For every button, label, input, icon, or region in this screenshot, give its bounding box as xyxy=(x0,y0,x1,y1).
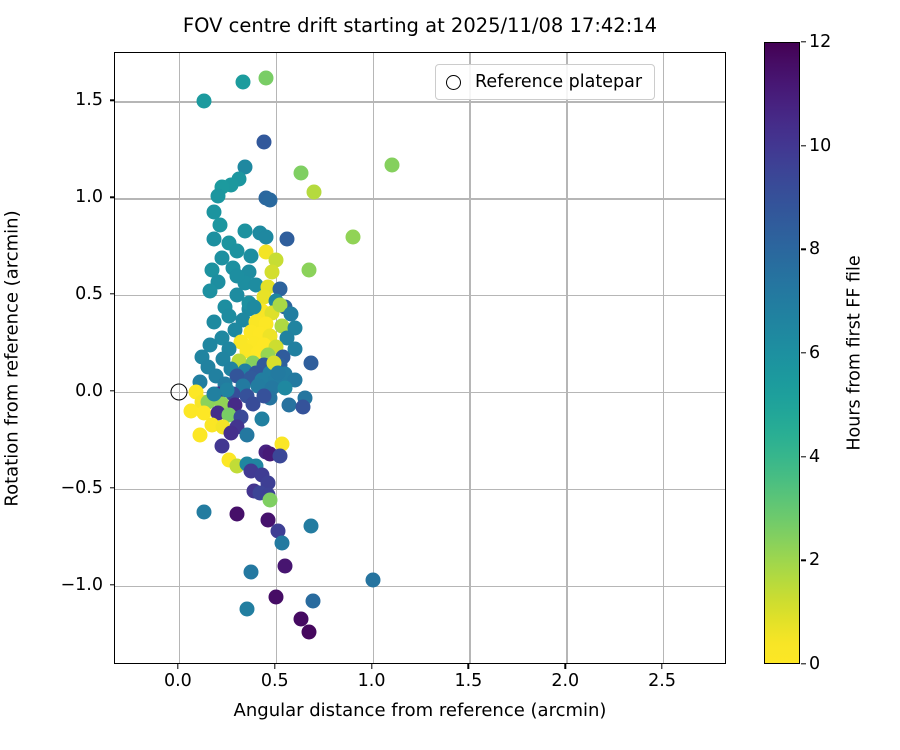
scatter-point xyxy=(243,565,258,580)
x-axis-tick xyxy=(661,664,662,669)
scatter-point xyxy=(210,189,225,204)
y-axis-tick-label: 0.0 xyxy=(75,381,103,401)
scatter-point xyxy=(257,135,272,150)
scatter-point xyxy=(239,427,254,442)
x-axis-tick-label: 0.0 xyxy=(164,671,192,691)
gridline-vertical xyxy=(566,53,567,663)
x-axis-tick xyxy=(371,664,372,669)
colorbar-tick-label: 8 xyxy=(809,239,820,259)
colorbar-tick-label: 0 xyxy=(809,654,820,674)
reference-platepar-point xyxy=(170,383,187,400)
scatter-point xyxy=(305,594,320,609)
gridline-vertical xyxy=(663,53,664,663)
scatter-point xyxy=(247,299,262,314)
scatter-point xyxy=(224,425,239,440)
scatter-point xyxy=(284,307,299,322)
gridline-horizontal xyxy=(115,586,725,587)
scatter-point xyxy=(278,381,293,396)
colorbar-tick xyxy=(801,560,806,561)
scatter-point xyxy=(237,224,252,239)
colorbar-label: Hours from first FF file xyxy=(843,42,867,664)
scatter-point xyxy=(280,231,295,246)
scatter-point xyxy=(301,625,316,640)
colorbar xyxy=(764,42,800,664)
colorbar-tick xyxy=(801,456,806,457)
y-axis-label: Rotation from reference (arcmin) xyxy=(0,52,24,664)
scatter-point xyxy=(193,427,208,442)
scatter-point xyxy=(272,448,287,463)
x-axis-label: Angular distance from reference (arcmin) xyxy=(114,700,726,721)
scatter-point xyxy=(197,505,212,520)
scatter-point xyxy=(307,185,322,200)
y-axis-tick-label: −0.5 xyxy=(61,478,104,498)
plot-axes-area xyxy=(114,52,726,664)
legend-entry-label: Reference platepar xyxy=(475,72,642,92)
scatter-point xyxy=(346,229,361,244)
y-axis-tick xyxy=(110,100,115,101)
x-axis-tick xyxy=(565,664,566,669)
colorbar-tick xyxy=(801,145,806,146)
scatter-point xyxy=(239,601,254,616)
scatter-point xyxy=(274,535,289,550)
y-axis-tick xyxy=(110,293,115,294)
scatter-point xyxy=(255,412,270,427)
x-axis-tick-label: 2.0 xyxy=(551,671,579,691)
colorbar-tick-label: 12 xyxy=(809,32,831,52)
scatter-point xyxy=(293,166,308,181)
gridline-vertical xyxy=(179,53,180,663)
scatter-point xyxy=(264,264,279,279)
scatter-point xyxy=(384,158,399,173)
y-axis-tick-label: 0.5 xyxy=(75,284,103,304)
reference-platepar-marker-icon xyxy=(446,75,461,90)
y-axis-tick xyxy=(110,584,115,585)
scatter-point xyxy=(230,268,245,283)
y-axis-tick xyxy=(110,390,115,391)
colorbar-tick-label: 4 xyxy=(809,447,820,467)
gridline-vertical xyxy=(469,53,470,663)
scatter-point xyxy=(206,231,221,246)
y-axis-tick xyxy=(110,487,115,488)
scatter-point xyxy=(220,382,235,397)
colorbar-tick-label: 6 xyxy=(809,343,820,363)
scatter-point xyxy=(268,590,283,605)
scatter-point xyxy=(303,518,318,533)
scatter-point xyxy=(197,94,212,109)
y-axis-tick xyxy=(110,197,115,198)
scatter-point xyxy=(262,193,277,208)
scatter-point xyxy=(303,355,318,370)
scatter-point xyxy=(270,365,285,380)
scatter-point xyxy=(259,229,274,244)
scatter-point xyxy=(206,386,221,401)
colorbar-tick xyxy=(801,249,806,250)
colorbar-tick-label: 10 xyxy=(809,136,831,156)
scatter-point xyxy=(235,75,250,90)
legend: Reference platepar xyxy=(435,64,655,100)
colorbar-tick xyxy=(801,41,806,42)
scatter-point xyxy=(230,506,245,521)
scatter-point xyxy=(262,493,277,508)
gridline-horizontal xyxy=(115,489,725,490)
scatter-point xyxy=(295,400,310,415)
colorbar-tick xyxy=(801,663,806,664)
figure-canvas: FOV centre drift starting at 2025/11/08 … xyxy=(0,0,900,750)
x-axis-tick-label: 0.5 xyxy=(261,671,289,691)
colorbar-tick-label: 2 xyxy=(809,550,820,570)
scatter-point xyxy=(301,262,316,277)
scatter-point xyxy=(259,71,274,86)
scatter-point xyxy=(206,315,221,330)
x-axis-tick-label: 2.5 xyxy=(648,671,676,691)
scatter-point xyxy=(365,572,380,587)
x-axis-tick-label: 1.0 xyxy=(358,671,386,691)
y-axis-tick-label: 1.0 xyxy=(75,187,103,207)
y-axis-label-text: Rotation from reference (arcmin) xyxy=(2,210,23,506)
x-axis-tick xyxy=(274,664,275,669)
x-axis-tick xyxy=(468,664,469,669)
scatter-point xyxy=(243,249,258,264)
gridline-horizontal xyxy=(115,198,725,199)
colorbar-label-text: Hours from first FF file xyxy=(845,255,865,450)
page-title: FOV centre drift starting at 2025/11/08 … xyxy=(114,14,726,37)
scatter-point xyxy=(257,388,272,403)
x-axis-tick-label: 1.5 xyxy=(454,671,482,691)
scatter-point xyxy=(278,559,293,574)
scatter-point xyxy=(202,284,217,299)
y-axis-tick-label: −1.0 xyxy=(61,575,104,595)
y-axis-tick-label: 1.5 xyxy=(75,90,103,110)
colorbar-tick xyxy=(801,352,806,353)
x-axis-tick xyxy=(177,664,178,669)
